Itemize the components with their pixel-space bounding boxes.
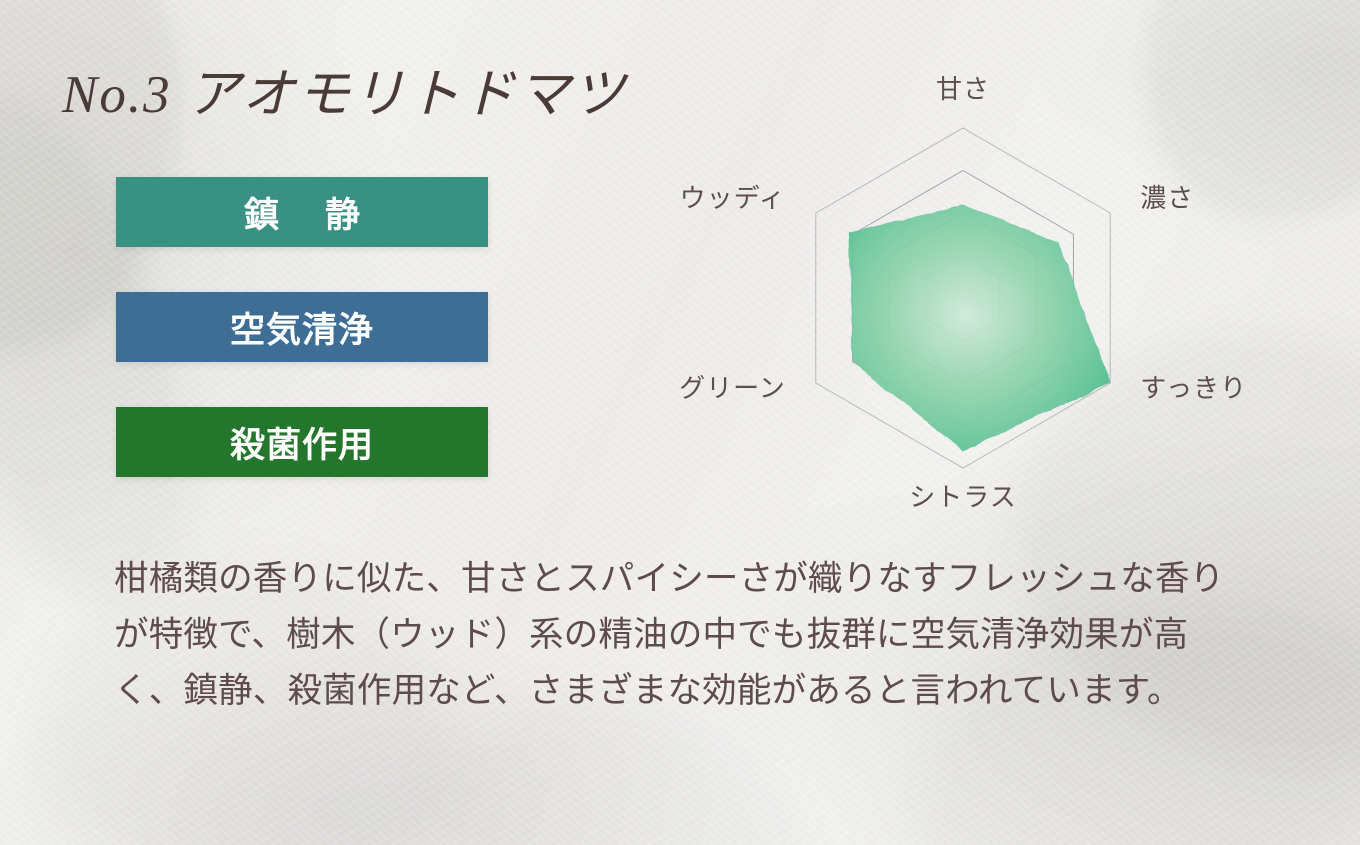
page-title: No.3 アオモリトドマツ bbox=[62, 52, 627, 128]
radar-axis-label-2: すっきり bbox=[1140, 373, 1247, 403]
radar-chart: 甘さ濃さすっきりシトラスグリーンウッディ bbox=[640, 55, 1300, 535]
radar-axis-label-1: 濃さ bbox=[1140, 183, 1194, 213]
badge-list: 鎮静 空気清浄 殺菌作用 bbox=[116, 177, 488, 522]
badge-calming[interactable]: 鎮静 bbox=[116, 177, 488, 247]
badge-antibacterial[interactable]: 殺菌作用 bbox=[116, 407, 488, 477]
radar-axis-label-0: 甘さ bbox=[936, 74, 990, 104]
radar-axis-label-4: グリーン bbox=[679, 373, 786, 403]
radar-area bbox=[849, 205, 1110, 452]
radar-axis-label-5: ウッディ bbox=[680, 183, 786, 213]
radar-axis-label-3: シトラス bbox=[909, 482, 1016, 512]
description-text: 柑橘類の香りに似た、甘さとスパイシーさが織りなすフレッシュな香りが特徴で、樹木（… bbox=[114, 552, 1254, 720]
radar-data-polygon bbox=[849, 205, 1110, 452]
radar-chart-svg: 甘さ濃さすっきりシトラスグリーンウッディ bbox=[640, 55, 1300, 535]
badge-air-purifying[interactable]: 空気清浄 bbox=[116, 292, 488, 362]
